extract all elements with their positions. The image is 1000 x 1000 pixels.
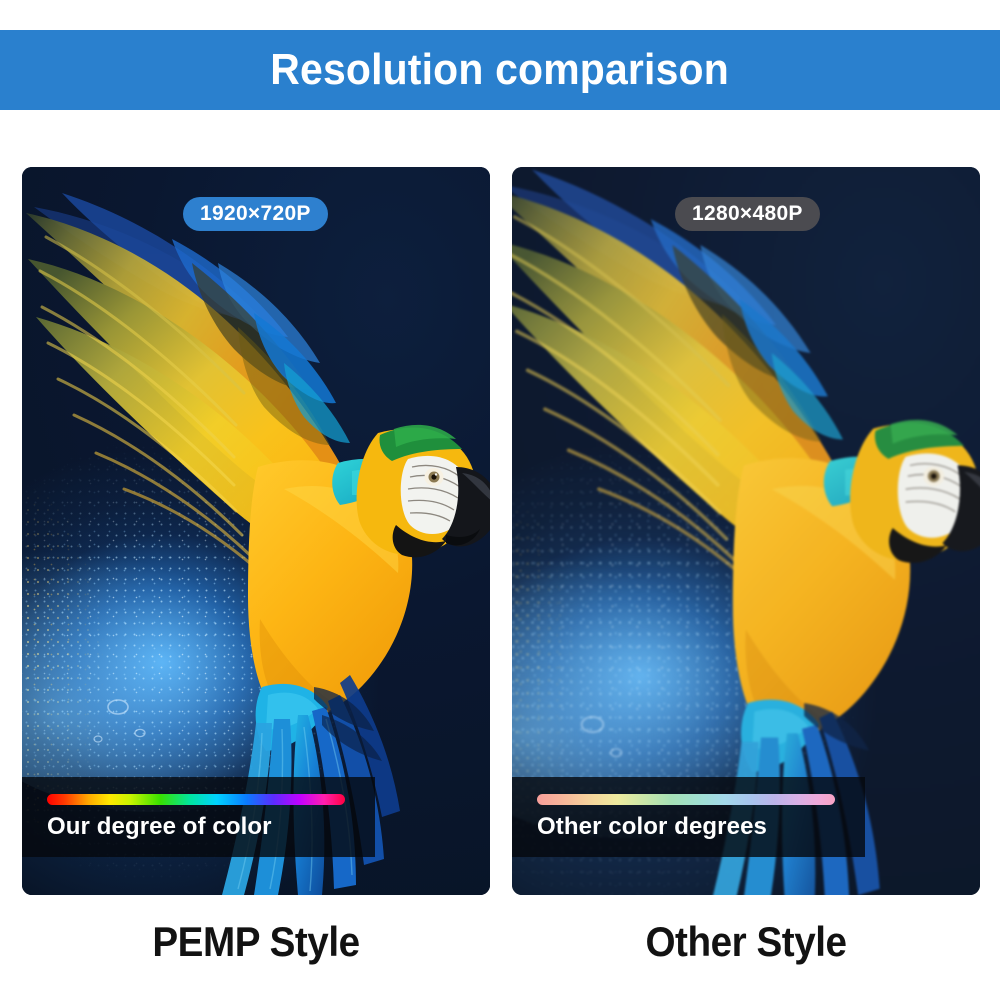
comparison-panel-right: 1280×480P Other color degrees (512, 167, 980, 895)
color-degree-overlay-right: Other color degrees (512, 777, 865, 857)
header-banner: Resolution comparison (0, 30, 1000, 110)
color-degree-label-right: Other color degrees (537, 813, 767, 841)
page-title: Resolution comparison (271, 45, 730, 95)
color-degree-label-left: Our degree of color (47, 813, 272, 841)
comparison-area: 1920×720P Our degree of color (0, 118, 1000, 1000)
resolution-badge-right: 1280×480P (675, 197, 820, 231)
comparison-panel-left: 1920×720P Our degree of color (22, 167, 490, 895)
resolution-badge-left: 1920×720P (183, 197, 328, 231)
color-gradient-bar-left (47, 794, 345, 805)
caption-left: PEMP Style (41, 918, 472, 966)
color-gradient-bar-right (537, 794, 835, 805)
color-degree-overlay-left: Our degree of color (22, 777, 375, 857)
caption-right: Other Style (531, 918, 962, 966)
